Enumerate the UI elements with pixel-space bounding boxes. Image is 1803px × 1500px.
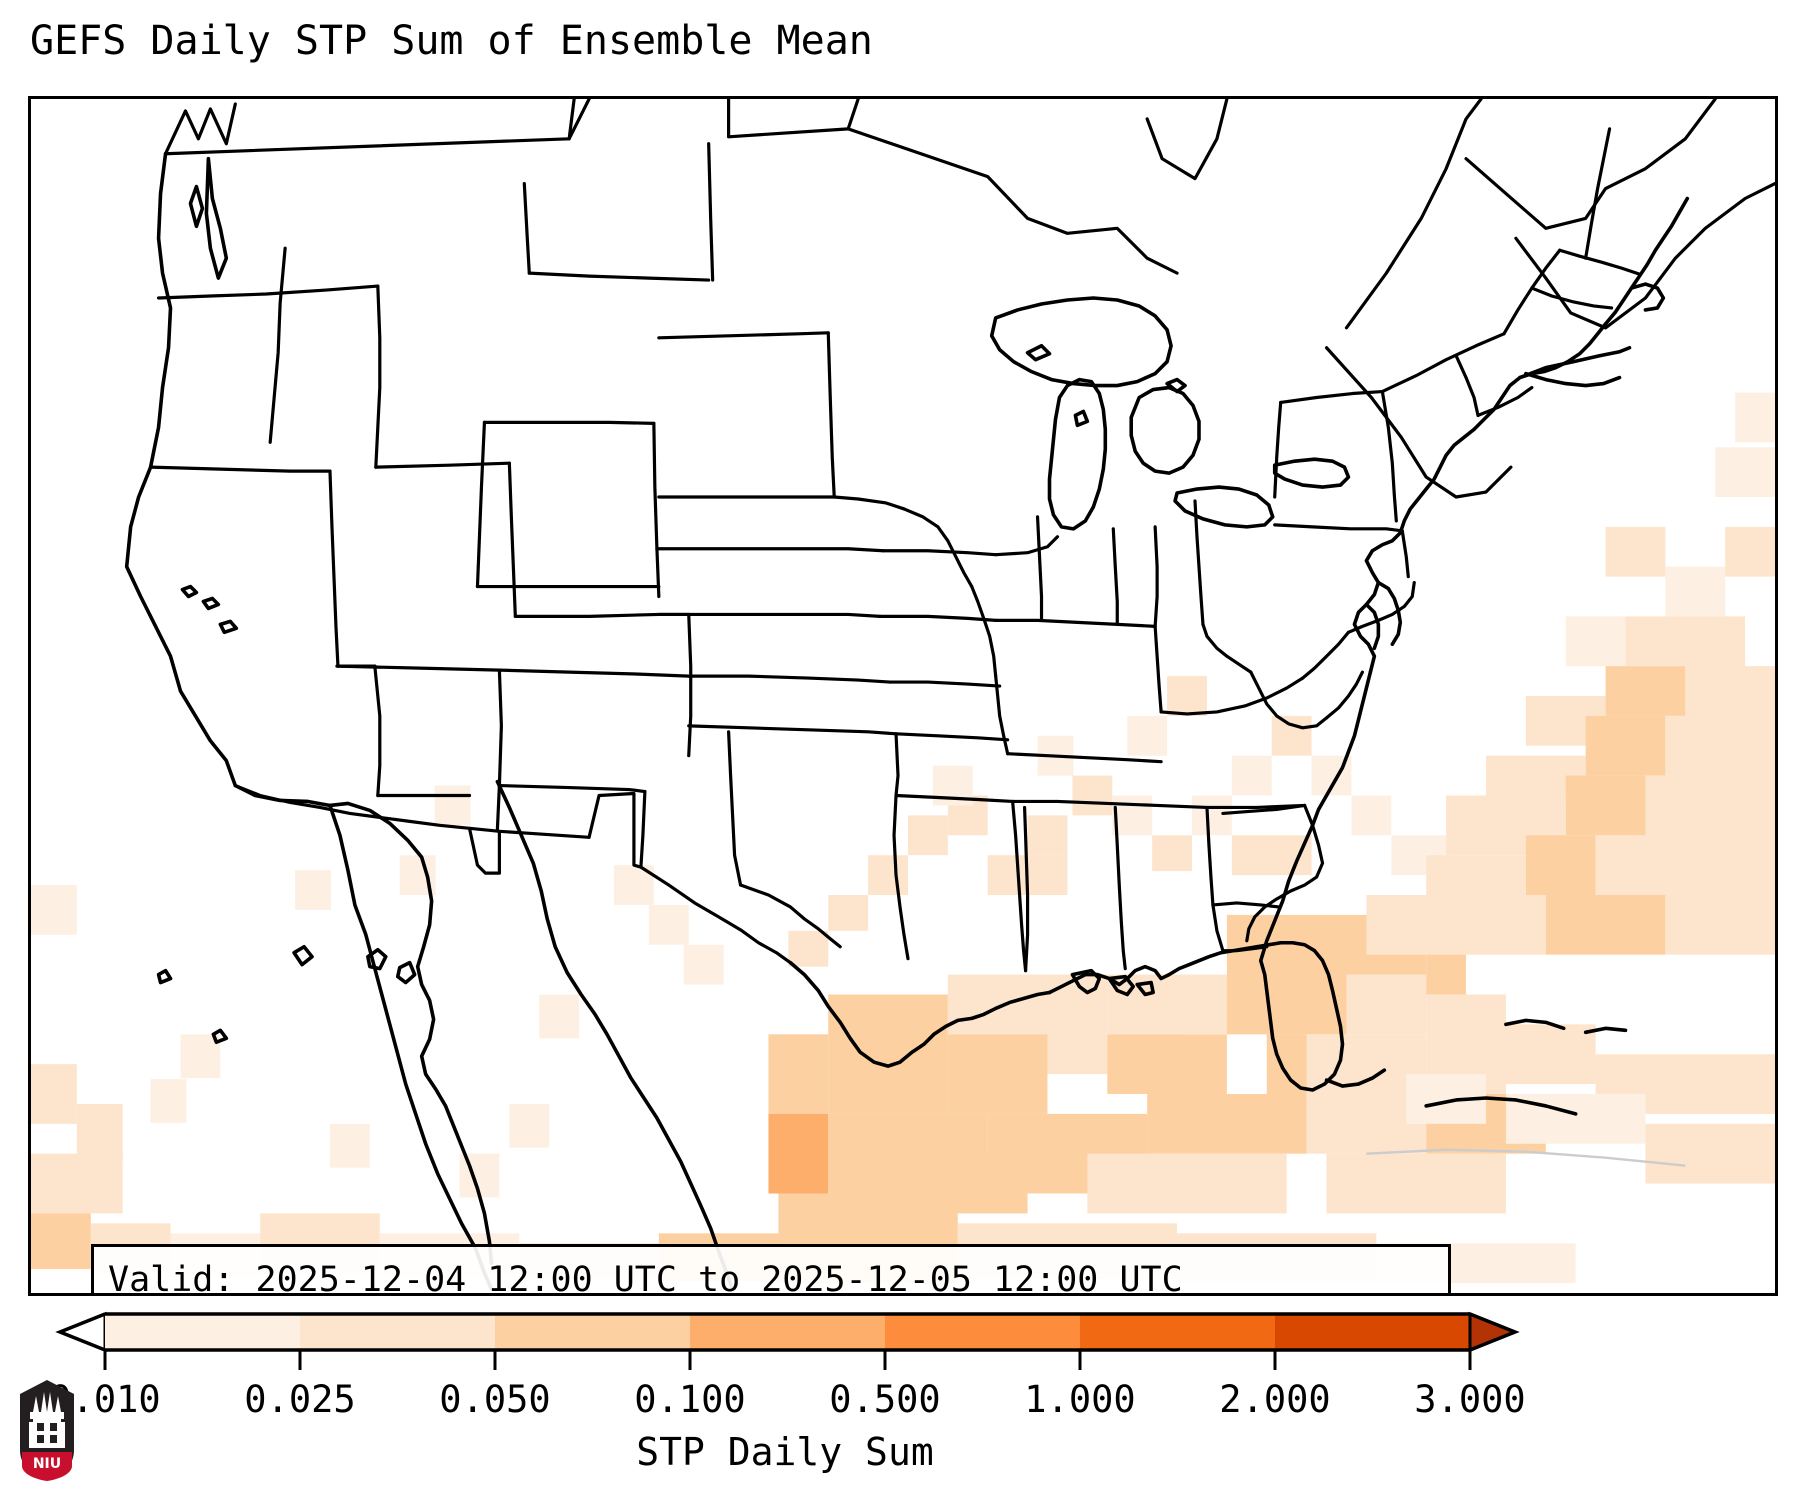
colorbar-tick-labels: 0.010 0.025 0.050 0.100 0.500 1.000 2.00… xyxy=(0,1378,1803,1424)
niu-logo-svg: NIU xyxy=(16,1378,78,1482)
colorbar-ticks xyxy=(105,1350,1470,1370)
valid-time-text: Valid: 2025-12-04 12:00 UTC to 2025-12-0… xyxy=(108,1255,1434,1296)
cb-tick-6: 2.000 xyxy=(1219,1378,1330,1421)
cb-tick-5: 1.000 xyxy=(1024,1378,1135,1421)
cb-tick-3: 0.100 xyxy=(634,1378,745,1421)
map-canvas: .c1{fill:#fdf0e3}.c2{fill:#fde4cd}.c3{fi… xyxy=(31,99,1775,1293)
niu-logo: NIU xyxy=(16,1378,78,1482)
colorbar-axis-label: STP Daily Sum xyxy=(0,1430,1570,1474)
info-box: Valid: 2025-12-04 12:00 UTC to 2025-12-0… xyxy=(91,1244,1451,1296)
cb-tick-2: 0.050 xyxy=(439,1378,550,1421)
niu-banner-text: NIU xyxy=(33,1456,61,1472)
colorbar-canvas xyxy=(60,1312,1515,1352)
cb-tick-1: 0.025 xyxy=(244,1378,355,1421)
colorbar-bands xyxy=(105,1314,1470,1350)
figure-canvas: GEFS Daily STP Sum of Ensemble Mean .c1{… xyxy=(0,0,1803,1500)
map-panel[interactable]: .c1{fill:#fdf0e3}.c2{fill:#fde4cd}.c3{fi… xyxy=(28,96,1778,1296)
page-title: GEFS Daily STP Sum of Ensemble Mean xyxy=(30,18,873,64)
colorbar[interactable] xyxy=(60,1312,1515,1352)
cb-tick-7: 3.000 xyxy=(1414,1378,1525,1421)
cb-tick-4: 0.500 xyxy=(829,1378,940,1421)
stp-shaded-field xyxy=(31,393,1775,1284)
colorbar-under-arrow xyxy=(60,1314,105,1350)
colorbar-over-arrow xyxy=(1470,1314,1515,1350)
